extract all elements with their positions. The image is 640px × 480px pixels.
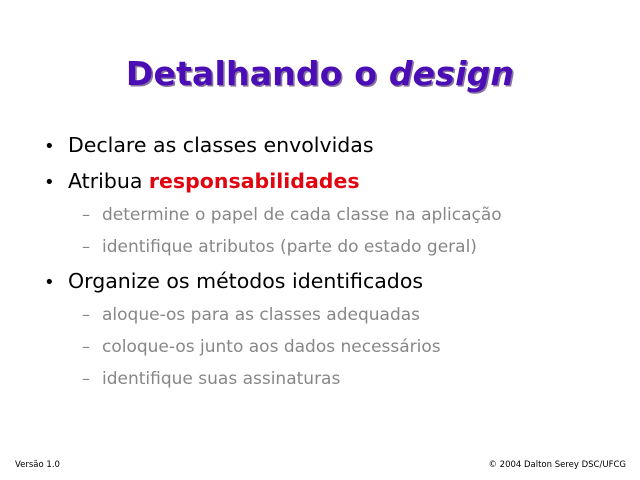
page-title-emphasis: design: [389, 54, 514, 93]
list-item-text-plain: identifique suas assinaturas: [102, 369, 340, 389]
list-item-text: Atribua responsabilidades: [68, 163, 360, 199]
list-item-text: Organize os métodos identificados: [68, 263, 423, 299]
bullet-dash-icon: –: [82, 299, 102, 331]
list-item-text-plain: determine o papel de cada classe na apli…: [102, 205, 502, 225]
list-item-text-plain: aloque-os para as classes adequadas: [102, 305, 420, 325]
list-item: •Declare as classes envolvidas: [0, 127, 640, 163]
bullet-dot-icon: •: [44, 265, 68, 301]
footer-copyright: © 2004 Dalton Serey DSC/UFCG: [488, 460, 626, 470]
bullet-dash-icon: –: [82, 199, 102, 231]
list-item: –aloque-os para as classes adequadas: [0, 299, 640, 331]
list-item-text-plain: identifique atributos (parte do estado g…: [102, 237, 477, 257]
list-item: –identifique suas assinaturas: [0, 363, 640, 395]
page-title: Detalhando o design: [0, 56, 640, 92]
list-item-text-plain: Organize os métodos identificados: [68, 269, 423, 293]
list-item-text: determine o papel de cada classe na apli…: [102, 199, 502, 231]
list-item: –determine o papel de cada classe na apl…: [0, 199, 640, 231]
bullet-dash-icon: –: [82, 363, 102, 395]
list-item: •Atribua responsabilidades: [0, 163, 640, 199]
bullet-dot-icon: •: [44, 129, 68, 165]
list-item-text-plain: Atribua: [68, 169, 149, 193]
list-item-text-plain: Declare as classes envolvidas: [68, 133, 374, 157]
list-item-text: coloque-os junto aos dados necessários: [102, 331, 441, 363]
list-item: –identifique atributos (parte do estado …: [0, 231, 640, 263]
list-item: –coloque-os junto aos dados necessários: [0, 331, 640, 363]
list-item-text: identifique atributos (parte do estado g…: [102, 231, 477, 263]
page-title-plain: Detalhando o: [126, 54, 389, 93]
bullet-dot-icon: •: [44, 165, 68, 201]
bullet-list: •Declare as classes envolvidas•Atribua r…: [0, 127, 640, 395]
list-item-text: identifique suas assinaturas: [102, 363, 340, 395]
bullet-dash-icon: –: [82, 231, 102, 263]
slide-canvas: Detalhando o design •Declare as classes …: [0, 0, 640, 480]
bullet-dash-icon: –: [82, 331, 102, 363]
footer-version: Versão 1.0: [15, 460, 60, 470]
list-item-text: aloque-os para as classes adequadas: [102, 299, 420, 331]
list-item-text-plain: coloque-os junto aos dados necessários: [102, 337, 441, 357]
list-item: •Organize os métodos identificados: [0, 263, 640, 299]
list-item-text-emphasis: responsabilidades: [149, 169, 360, 193]
list-item-text: Declare as classes envolvidas: [68, 127, 374, 163]
